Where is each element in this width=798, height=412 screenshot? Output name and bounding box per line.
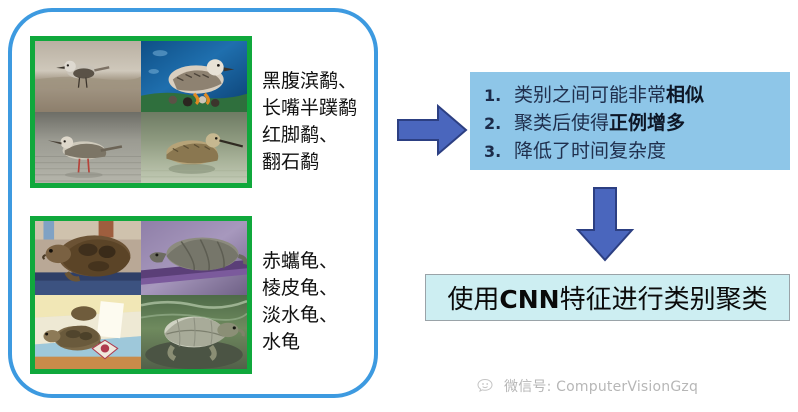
conclusion-suffix: 特征进行类别聚类 (560, 285, 768, 315)
list-item-emphasis: 正例增多 (609, 112, 685, 134)
list-item: 3. 降低了时间复杂度 (484, 136, 784, 164)
photo-dowitcher-in-water (141, 112, 247, 183)
list-item-number: 1. (484, 86, 514, 105)
conclusion-emphasis: CNN (499, 285, 559, 314)
photo-sandpiper-on-sand (35, 41, 141, 112)
photo-freshwater-turtle-on-paper (35, 295, 141, 369)
photo-turnstone-on-rocks (141, 41, 247, 112)
wechat-smiley-icon (477, 378, 497, 394)
list-item-text: 聚类后使得正例增多 (514, 108, 685, 135)
list-item-prefix: 聚类后使得 (514, 112, 609, 134)
photo-leatherback-turtle (141, 221, 247, 295)
right-arrow-icon (396, 100, 468, 160)
conclusion-text: 使用CNN特征进行类别聚类 (447, 279, 767, 316)
photo-water-turtle-on-rock (141, 295, 247, 369)
list-item-number: 2. (484, 114, 514, 133)
list-item-text: 类别之间可能非常相似 (514, 80, 704, 107)
list-item-number: 3. (484, 142, 514, 161)
turtle-group-caption: 赤蠵龟、 棱皮龟、 淡水龟、 水龟 (262, 248, 338, 356)
list-item: 2. 聚类后使得正例增多 (484, 108, 784, 136)
list-item-prefix: 类别之间可能非常 (514, 84, 666, 106)
watermark: 微信号: ComputerVisionGzq (477, 376, 698, 396)
watermark-text: 微信号: ComputerVisionGzq (504, 376, 698, 396)
observations-list-box: 1. 类别之间可能非常相似 2. 聚类后使得正例增多 3. 降低了时间复杂度 (470, 72, 790, 170)
bird-group-caption: 黑腹滨鹬、 长嘴半蹼鹬 红脚鹬、 翻石鹬 (262, 68, 357, 176)
bird-photo-grid (30, 36, 252, 188)
conclusion-prefix: 使用 (447, 285, 499, 315)
list-item: 1. 类别之间可能非常相似 (484, 80, 784, 108)
list-item-text: 降低了时间复杂度 (514, 136, 666, 163)
conclusion-box: 使用CNN特征进行类别聚类 (425, 274, 790, 321)
list-item-prefix: 降低了时间复杂度 (514, 140, 666, 162)
photo-loggerhead-turtle (35, 221, 141, 295)
list-item-emphasis: 相似 (666, 84, 704, 106)
photo-redshank-wading (35, 112, 141, 183)
down-arrow-icon (572, 186, 638, 262)
turtle-photo-grid (30, 216, 252, 374)
